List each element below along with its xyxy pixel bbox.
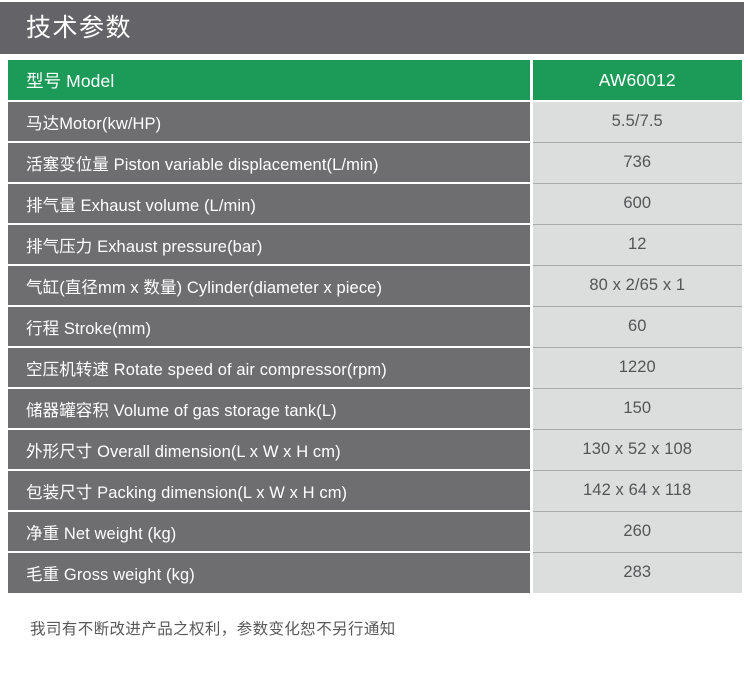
table-row: 行程 Stroke(mm)60 [8,306,742,347]
table-row: 马达Motor(kw/HP)5.5/7.5 [8,101,742,142]
table-header-label-model: 型号 Model [8,60,531,101]
table-cell-value: 1220 [531,347,742,388]
table-cell-value: 130 x 52 x 108 [531,429,742,470]
table-cell-label: 空压机转速 Rotate speed of air compressor(rpm… [8,347,531,388]
table-cell-value: 283 [531,552,742,593]
table-row: 活塞变位量 Piston variable displacement(L/min… [8,142,742,183]
table-cell-value: 736 [531,142,742,183]
table-cell-value: 142 x 64 x 118 [531,470,742,511]
table-cell-label: 行程 Stroke(mm) [8,306,531,347]
table-row: 净重 Net weight (kg)260 [8,511,742,552]
page-title: 技术参数 [0,16,132,41]
table-row: 排气量 Exhaust volume (L/min)600 [8,183,742,224]
table-cell-label: 排气量 Exhaust volume (L/min) [8,183,531,224]
table-cell-label: 净重 Net weight (kg) [8,511,531,552]
table-row: 包装尺寸 Packing dimension(L x W x H cm)142 … [8,470,742,511]
table-row: 储器罐容积 Volume of gas storage tank(L)150 [8,388,742,429]
table-cell-label: 外形尺寸 Overall dimension(L x W x H cm) [8,429,531,470]
table-cell-label: 排气压力 Exhaust pressure(bar) [8,224,531,265]
page-title-bar: 技术参数 [0,2,744,54]
disclaimer-note: 我司有不断改进产品之权利，参数变化恕不另行通知 [30,617,396,639]
table-body: 型号 Model AW60012 马达Motor(kw/HP)5.5/7.5活塞… [8,60,742,593]
table-row: 空压机转速 Rotate speed of air compressor(rpm… [8,347,742,388]
table-cell-label: 气缸(直径mm x 数量) Cylinder(diameter x piece) [8,265,531,306]
table-row: 气缸(直径mm x 数量) Cylinder(diameter x piece)… [8,265,742,306]
table-cell-label: 活塞变位量 Piston variable displacement(L/min… [8,142,531,183]
table-cell-label: 马达Motor(kw/HP) [8,101,531,142]
table-cell-value: 600 [531,183,742,224]
table-header-value-model: AW60012 [531,60,742,101]
table-cell-label: 毛重 Gross weight (kg) [8,552,531,593]
table-cell-value: 12 [531,224,742,265]
table-row: 排气压力 Exhaust pressure(bar)12 [8,224,742,265]
table-cell-value: 260 [531,511,742,552]
table-cell-value: 80 x 2/65 x 1 [531,265,742,306]
table-row: 毛重 Gross weight (kg)283 [8,552,742,593]
table-cell-value: 5.5/7.5 [531,101,742,142]
table-row: 外形尺寸 Overall dimension(L x W x H cm)130 … [8,429,742,470]
technical-parameters-table: 型号 Model AW60012 马达Motor(kw/HP)5.5/7.5活塞… [8,60,742,593]
table-cell-value: 150 [531,388,742,429]
table-header-row: 型号 Model AW60012 [8,60,742,101]
table-cell-value: 60 [531,306,742,347]
table-cell-label: 包装尺寸 Packing dimension(L x W x H cm) [8,470,531,511]
spec-sheet-page: 技术参数 型号 Model AW60012 马达Motor(kw/HP)5.5/… [0,0,750,674]
table-cell-label: 储器罐容积 Volume of gas storage tank(L) [8,388,531,429]
